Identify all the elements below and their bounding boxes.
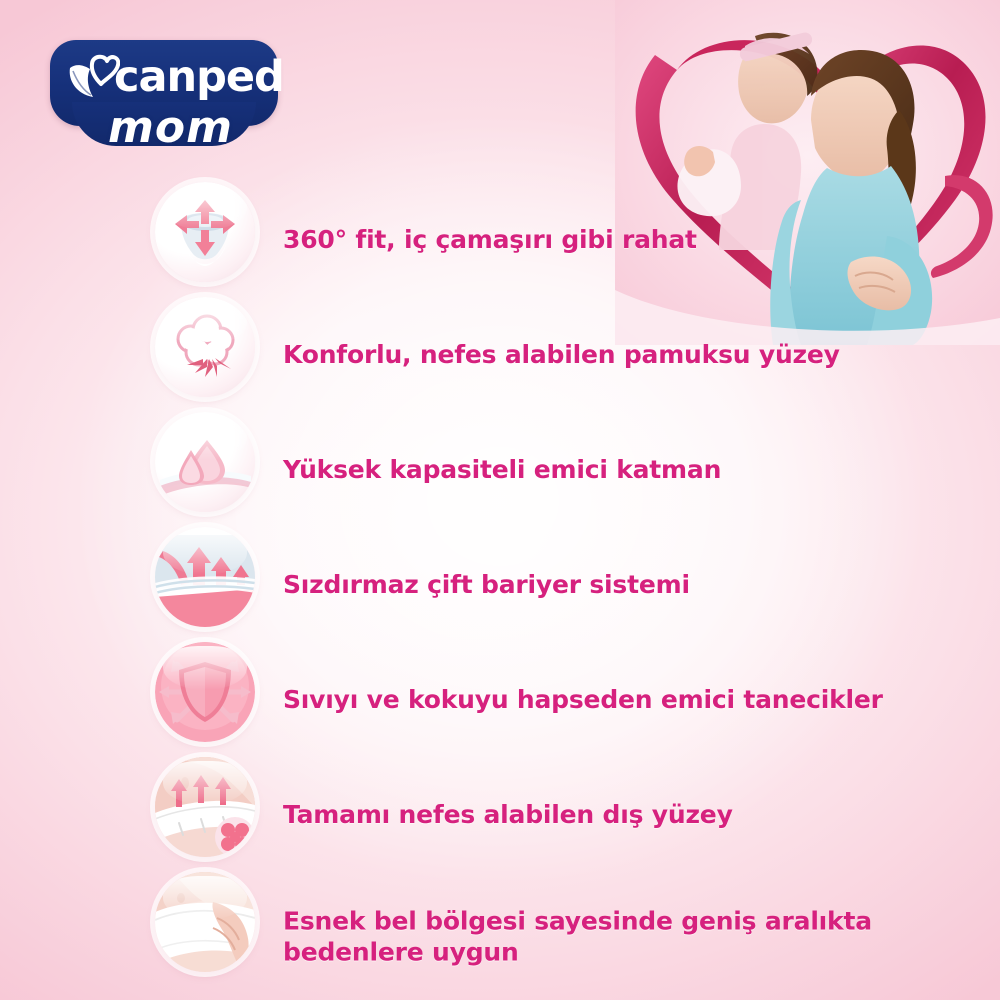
- feature-row: Yüksek kapasiteli emici katman: [155, 412, 985, 527]
- feature-list: 360° fit, iç çamaşırı gibi rahat: [155, 182, 985, 1000]
- feature-row: Sızdırmaz çift bariyer sistemi: [155, 527, 985, 642]
- diaper-360-fit-icon: [155, 182, 255, 282]
- feature-label: Konforlu, nefes alabilen pamuksu yüzey: [283, 339, 840, 370]
- feature-label: Yüksek kapasiteli emici katman: [283, 454, 721, 485]
- logo-submark: mom: [108, 102, 233, 153]
- feature-label: 360° fit, iç çamaşırı gibi rahat: [283, 224, 697, 255]
- product-feature-poster: canped mom: [0, 0, 1000, 1000]
- cotton-flower-icon: [155, 297, 255, 397]
- flexible-waist-icon: [155, 872, 255, 972]
- feature-row: Sıvıyı ve kokuyu hapseden emici tanecikl…: [155, 642, 985, 757]
- brand-logo: canped mom: [42, 36, 287, 161]
- feature-label: Sıvıyı ve kokuyu hapseden emici tanecikl…: [283, 684, 883, 715]
- feature-row: Konforlu, nefes alabilen pamuksu yüzey: [155, 297, 985, 412]
- feature-label: Tamamı nefes alabilen dış yüzey: [283, 799, 733, 830]
- feature-row: 360° fit, iç çamaşırı gibi rahat: [155, 182, 985, 297]
- shield-protection-icon: [155, 642, 255, 742]
- feature-row: Esnek bel bölgesi sayesinde geniş aralık…: [155, 872, 985, 1000]
- leak-barrier-arrows-icon: [155, 527, 255, 627]
- heart-leaf-icon: [66, 50, 120, 110]
- logo-wordmark: canped: [114, 52, 284, 102]
- feature-label: Sızdırmaz çift bariyer sistemi: [283, 569, 690, 600]
- breathable-surface-icon: [155, 757, 255, 857]
- feature-label: Esnek bel bölgesi sayesinde geniş aralık…: [283, 907, 872, 968]
- feature-row: Tamamı nefes alabilen dış yüzey: [155, 757, 985, 872]
- absorbent-droplets-icon: [155, 412, 255, 512]
